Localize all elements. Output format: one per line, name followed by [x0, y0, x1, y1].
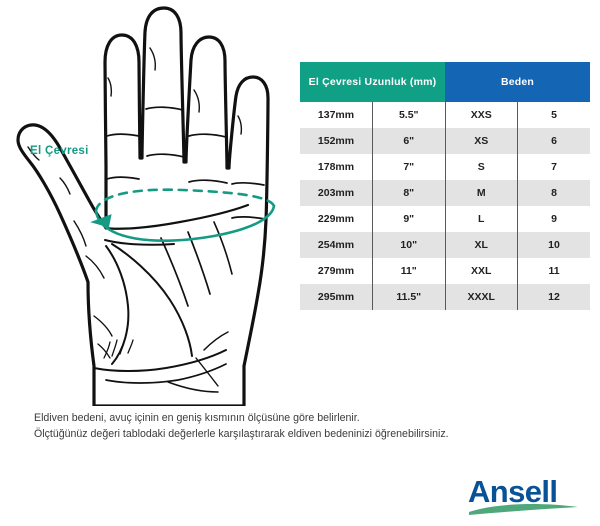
cell-letter: XL	[445, 232, 518, 258]
table-header: El Çevresi Uzunluk (mm) Beden	[300, 62, 590, 102]
cell-inch: 6"	[373, 128, 446, 154]
cell-letter: XXXL	[445, 284, 518, 310]
hand-outline	[18, 8, 268, 406]
ansell-logo: Ansell	[466, 472, 586, 518]
cell-number: 6	[518, 128, 591, 154]
el-cevresi-label: El Çevresi	[30, 145, 89, 157]
cell-number: 9	[518, 206, 591, 232]
cell-letter: XS	[445, 128, 518, 154]
cell-letter: XXL	[445, 258, 518, 284]
table-row: 279mm 11" XXL 11	[300, 258, 590, 284]
cell-number: 11	[518, 258, 591, 284]
cell-inch: 5.5"	[373, 102, 446, 128]
header-circumference: El Çevresi Uzunluk (mm)	[300, 62, 445, 102]
table-header-row: El Çevresi Uzunluk (mm) Beden	[300, 62, 590, 102]
cell-number: 7	[518, 154, 591, 180]
instruction-caption: Eldiven bedeni, avuç içinin en geniş kıs…	[34, 410, 574, 442]
cell-number: 10	[518, 232, 591, 258]
hand-illustration: El Çevresi	[8, 6, 298, 406]
table-row: 254mm 10" XL 10	[300, 232, 590, 258]
cell-inch: 8"	[373, 180, 446, 206]
cell-letter: XXS	[445, 102, 518, 128]
cell-inch: 9"	[373, 206, 446, 232]
cell-number: 8	[518, 180, 591, 206]
header-size: Beden	[445, 62, 590, 102]
cell-mm: 203mm	[300, 180, 373, 206]
cell-number: 5	[518, 102, 591, 128]
cell-letter: M	[445, 180, 518, 206]
table-row: 229mm 9" L 9	[300, 206, 590, 232]
table-row: 203mm 8" M 8	[300, 180, 590, 206]
ansell-wordmark: Ansell	[468, 474, 557, 509]
cell-mm: 229mm	[300, 206, 373, 232]
caption-line-2: Ölçtüğünüz değeri tablodaki değerlerle k…	[34, 426, 574, 442]
caption-line-1: Eldiven bedeni, avuç içinin en geniş kıs…	[34, 410, 574, 426]
table-row: 137mm 5.5" XXS 5	[300, 102, 590, 128]
cell-mm: 295mm	[300, 284, 373, 310]
cell-letter: S	[445, 154, 518, 180]
cell-letter: L	[445, 206, 518, 232]
cell-number: 12	[518, 284, 591, 310]
cell-inch: 11"	[373, 258, 446, 284]
cell-mm: 178mm	[300, 154, 373, 180]
cell-mm: 152mm	[300, 128, 373, 154]
cell-mm: 279mm	[300, 258, 373, 284]
table-row: 178mm 7" S 7	[300, 154, 590, 180]
cell-inch: 10"	[373, 232, 446, 258]
table-row: 295mm 11.5" XXXL 12	[300, 284, 590, 310]
cell-inch: 11.5"	[373, 284, 446, 310]
glove-size-table: El Çevresi Uzunluk (mm) Beden 137mm 5.5"…	[300, 62, 590, 310]
cell-mm: 137mm	[300, 102, 373, 128]
table-row: 152mm 6" XS 6	[300, 128, 590, 154]
cell-mm: 254mm	[300, 232, 373, 258]
table-body: 137mm 5.5" XXS 5 152mm 6" XS 6 178mm 7" …	[300, 102, 590, 310]
cell-inch: 7"	[373, 154, 446, 180]
